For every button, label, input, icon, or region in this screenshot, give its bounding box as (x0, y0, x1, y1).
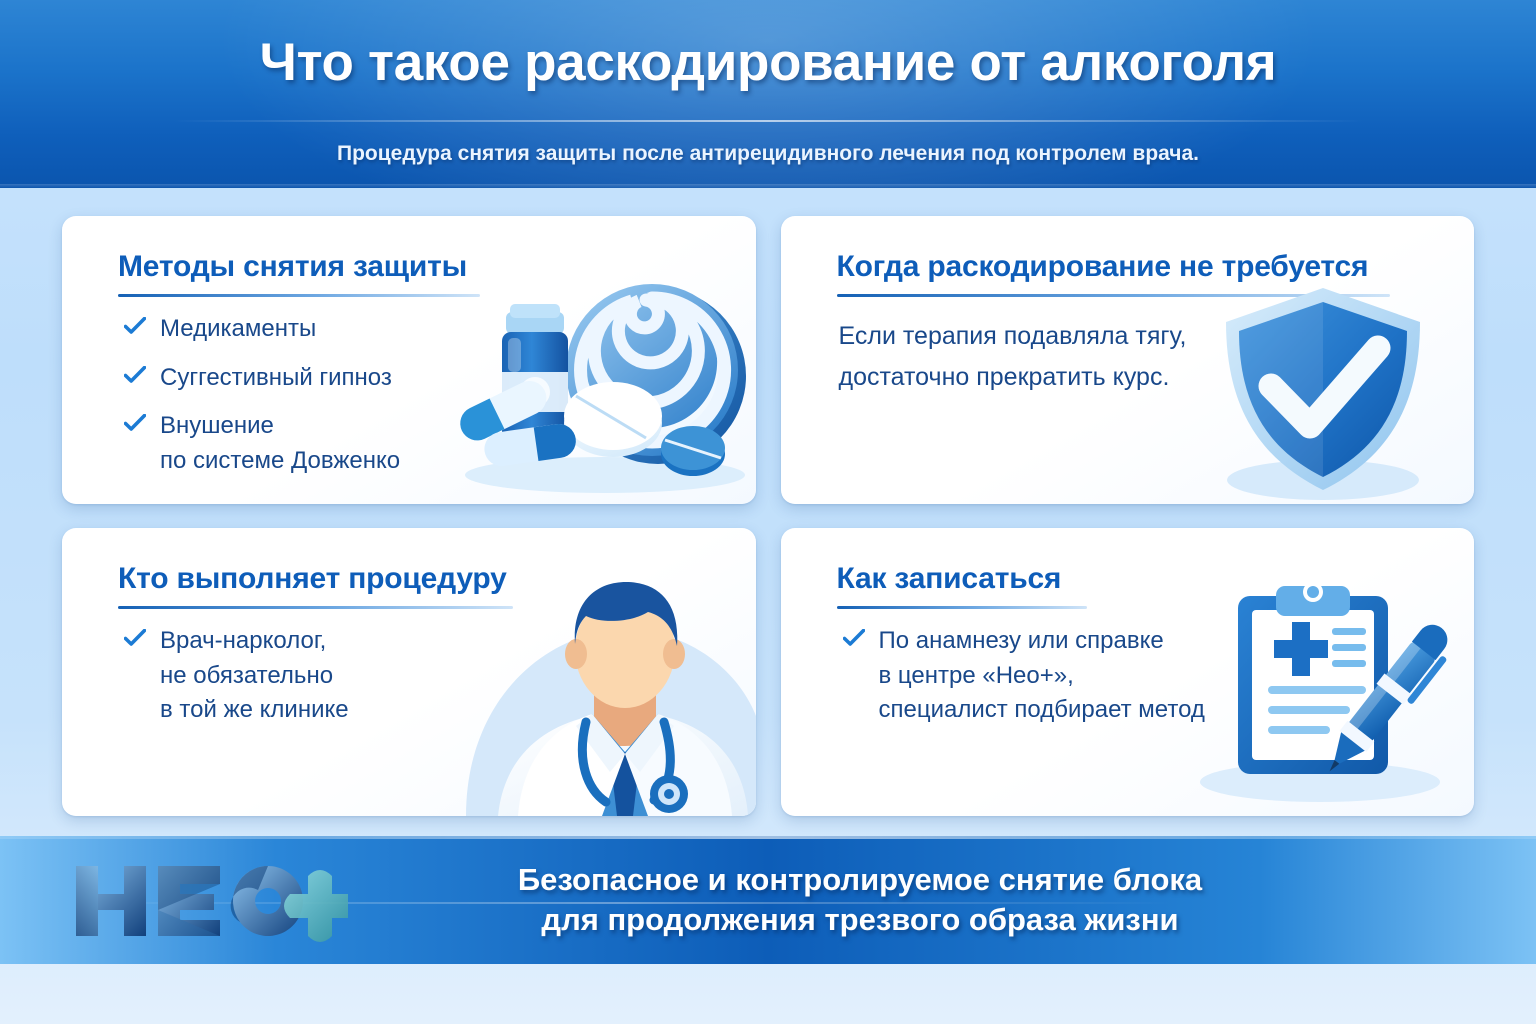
list-item-line1: Внушение (160, 412, 274, 439)
list-item-line2: по системе Довженко (160, 444, 400, 479)
paragraph-line1: Если терапия подавляла тягу, (839, 322, 1187, 350)
list-item-label: Суггестивный гипноз (160, 364, 392, 391)
card-how-to-book[interactable]: Как записаться По анамнезу или справкев … (781, 528, 1475, 816)
check-icon (124, 414, 146, 432)
clipboard-pen-icon (1190, 578, 1450, 808)
bullet-list: Врач-нарколог,не обязательнов той же кли… (118, 624, 349, 742)
list-item-line1: По анамнезу или справке (879, 627, 1164, 654)
list-item-label: Внушениепо системе Довженко (160, 412, 400, 478)
pills-and-spiral-icon (440, 268, 750, 500)
card-who-performs[interactable]: Кто выполняет процедуру Врач-нарколог,не… (62, 528, 756, 816)
list-item-label: По анамнезу или справкев центре «Нео+»,с… (879, 627, 1205, 728)
check-icon (124, 317, 146, 335)
bullet-list: Медикаменты Суггестивный гипноз Внушение… (118, 312, 400, 492)
card-title: Как записаться (837, 562, 1062, 596)
card-title-underline (118, 606, 513, 609)
card-title: Когда раскодирование не требуется (837, 250, 1369, 284)
page-footer: Безопасное и контролируемое снятие блока… (0, 836, 1536, 964)
list-item: Медикаменты (118, 312, 400, 347)
card-not-required[interactable]: Когда раскодирование не требуется Если т… (781, 216, 1475, 504)
card-paragraph: Если терапия подавляла тягу, достаточно … (839, 316, 1187, 397)
list-item: По анамнезу или справкев центре «Нео+»,с… (837, 624, 1205, 728)
list-item: Внушениепо системе Довженко (118, 409, 400, 478)
tagline-line2: для продолжения трезвого образа жизни (360, 900, 1360, 940)
list-item-line2: в центре «Нео+», (879, 659, 1205, 694)
card-title: Кто выполняет процедуру (118, 562, 507, 596)
page-title: Что такое раскодирование от алкоголя (0, 32, 1536, 93)
list-item-line3: в той же клинике (160, 693, 349, 728)
list-item-line1: Врач-нарколог, (160, 627, 326, 654)
page-header: Что такое раскодирование от алкоголя Про… (0, 0, 1536, 188)
list-item-label: Медикаменты (160, 315, 316, 342)
check-icon (124, 366, 146, 384)
list-item: Врач-нарколог,не обязательнов той же кли… (118, 624, 349, 728)
list-item: Суггестивный гипноз (118, 361, 400, 396)
card-title-underline (837, 294, 1390, 297)
doctor-icon (426, 566, 756, 816)
list-item-line2: не обязательно (160, 659, 349, 694)
page-subtitle: Процедура снятия защиты после антирециди… (0, 142, 1536, 166)
brand-logo[interactable] (68, 858, 348, 944)
card-title: Методы снятия защиты (118, 250, 467, 284)
bullet-list: По анамнезу или справкев центре «Нео+»,с… (837, 624, 1205, 742)
paragraph-line2: достаточно прекратить курс. (839, 363, 1170, 391)
list-item-line3: специалист подбирает метод (879, 693, 1205, 728)
card-title-underline (837, 606, 1087, 609)
tagline-line1: Безопасное и контролируемое снятие блока (518, 862, 1202, 897)
card-title-underline (118, 294, 480, 297)
header-divider (172, 120, 1364, 122)
check-icon (124, 629, 146, 647)
shield-check-icon (1216, 282, 1430, 504)
check-icon (843, 629, 865, 647)
footer-tagline: Безопасное и контролируемое снятие блока… (360, 860, 1360, 941)
card-methods[interactable]: Методы снятия защиты Медикаменты Суггест… (62, 216, 756, 504)
list-item-label: Врач-нарколог,не обязательнов той же кли… (160, 627, 349, 728)
card-grid: Методы снятия защиты Медикаменты Суггест… (62, 216, 1474, 816)
